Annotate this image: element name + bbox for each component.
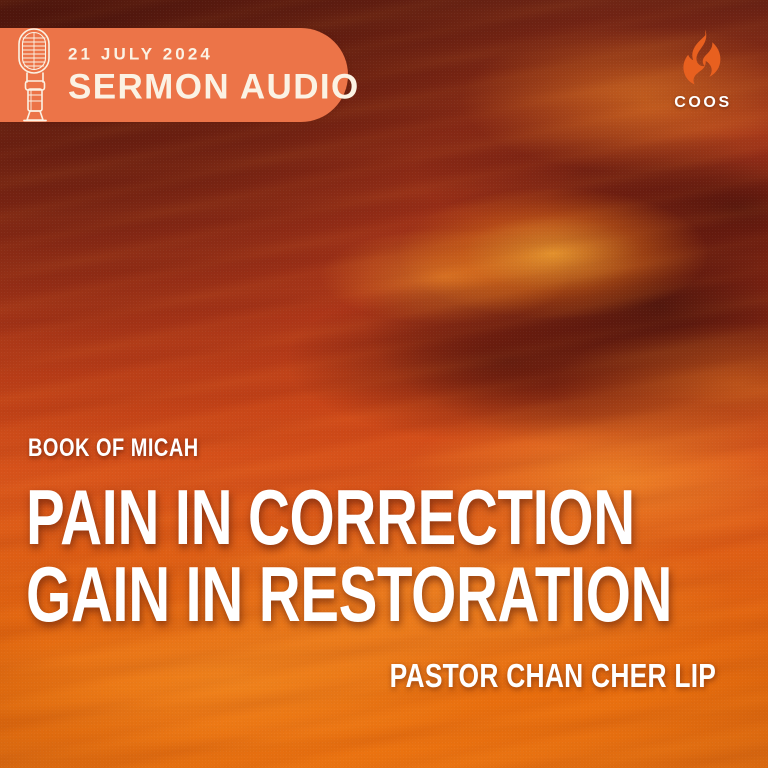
- coos-wordmark: COOS: [660, 95, 746, 111]
- coos-logo: COOS: [660, 28, 746, 111]
- microphone-icon: [12, 26, 58, 124]
- series-eyebrow: BOOK OF MICAH: [28, 436, 620, 461]
- banner-text-group: 21 JULY 2024 SERMON AUDIO: [68, 46, 360, 105]
- speaker-name: PASTOR CHAN CHER LIP: [389, 659, 716, 692]
- banner-title: SERMON AUDIO: [68, 70, 360, 105]
- sermon-cover-artwork: 21 JULY 2024 SERMON AUDIO COOS BOOK OF M…: [0, 0, 768, 768]
- speaker-byline: PASTOR CHAN CHER LIP: [0, 659, 716, 692]
- sermon-audio-banner: 21 JULY 2024 SERMON AUDIO: [0, 28, 348, 122]
- headline-line-1: PAIN IN CORRECTION: [26, 483, 579, 552]
- title-block: BOOK OF MICAH PAIN IN CORRECTION GAIN IN…: [0, 436, 768, 692]
- flame-icon: [660, 28, 746, 91]
- banner-date: 21 JULY 2024: [68, 46, 360, 63]
- sermon-headline: PAIN IN CORRECTION GAIN IN RESTORATION: [26, 483, 579, 629]
- headline-line-2: GAIN IN RESTORATION: [26, 560, 579, 629]
